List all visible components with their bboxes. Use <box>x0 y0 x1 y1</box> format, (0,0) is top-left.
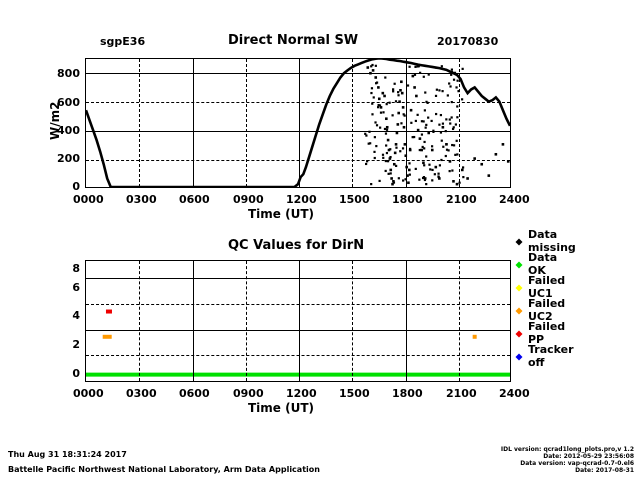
data-point-marker <box>415 168 417 170</box>
data-point-marker <box>461 169 464 172</box>
data-point-marker <box>423 164 425 166</box>
x-tick-top-1500: 1500 <box>339 193 363 206</box>
data-point-marker <box>375 65 377 67</box>
data-point-marker <box>392 88 394 90</box>
data-point-marker <box>390 172 392 174</box>
data-point-marker <box>422 162 425 165</box>
data-point-marker <box>370 183 372 185</box>
data-point-marker <box>409 66 411 68</box>
gridline-h-200 <box>86 160 510 161</box>
data-point-marker <box>402 179 404 181</box>
gridline-v-0300 <box>139 59 140 187</box>
data-point-marker <box>441 90 443 92</box>
data-point-marker <box>453 144 455 146</box>
qc-marker <box>473 335 477 339</box>
gridline-v-2100 <box>459 59 460 187</box>
data-point-marker <box>388 173 390 175</box>
data-point-marker <box>442 126 445 129</box>
data-point-marker <box>385 132 387 134</box>
footer-data-date: Date: 2017-08-31 <box>400 467 634 474</box>
data-point-marker <box>376 124 378 126</box>
data-point-marker <box>414 66 416 68</box>
data-point-marker <box>456 140 458 142</box>
data-point-marker <box>439 164 441 166</box>
data-point-marker <box>435 166 438 169</box>
data-point-marker <box>397 94 399 96</box>
data-point-marker <box>407 181 410 184</box>
chart-panel-qc-values <box>85 260 511 382</box>
data-point-marker <box>418 179 420 181</box>
qc-marker <box>106 310 112 314</box>
data-point-marker <box>448 82 450 84</box>
y-tick-qc-4: 4 <box>58 309 80 322</box>
data-point-marker <box>386 152 388 154</box>
data-point-marker <box>415 95 418 98</box>
data-point-marker <box>462 68 464 70</box>
data-point-marker <box>452 180 455 183</box>
gridline-v-1500 <box>352 59 353 187</box>
data-point-marker <box>369 142 371 144</box>
data-point-marker <box>409 174 411 176</box>
diamond-marker-icon <box>515 261 522 268</box>
data-point-marker <box>397 112 400 115</box>
data-point-marker <box>406 174 409 177</box>
chart-panel-direct-normal-sw <box>85 58 511 188</box>
data-point-marker <box>389 148 391 150</box>
data-point-marker <box>402 106 405 109</box>
x-tick-top-0000: 0000 <box>73 193 97 206</box>
data-point-marker <box>385 170 387 172</box>
gridline-h-600 <box>86 102 510 103</box>
x-tick-qc-0900: 0900 <box>233 387 257 400</box>
data-point-marker <box>387 139 390 142</box>
x-tick-qc-0300: 0300 <box>126 387 150 400</box>
data-point-marker <box>495 153 498 156</box>
x-tick-top-1200: 1200 <box>286 193 310 206</box>
data-point-marker <box>425 155 427 157</box>
data-point-marker <box>389 169 392 172</box>
data-point-marker <box>385 144 387 146</box>
data-point-marker <box>400 80 403 83</box>
data-point-marker <box>408 169 411 172</box>
data-point-marker <box>449 118 451 120</box>
data-point-marker <box>412 75 415 78</box>
data-point-marker <box>410 109 413 112</box>
data-point-marker <box>454 154 456 156</box>
data-point-marker <box>385 117 388 120</box>
x-axis-label-qc: Time (UT) <box>248 401 314 415</box>
data-point-marker <box>397 123 400 126</box>
data-point-marker <box>394 83 396 85</box>
data-point-marker <box>434 173 436 175</box>
data-point-marker <box>462 176 464 178</box>
legend-item-label: Tracker off <box>528 343 574 369</box>
x-tick-top-0900: 0900 <box>233 193 257 206</box>
data-point-marker <box>429 168 431 170</box>
data-point-marker <box>372 69 375 72</box>
data-point-marker <box>371 113 373 115</box>
data-point-marker <box>480 163 483 166</box>
data-point-marker <box>409 148 411 150</box>
y-tick-qc-2: 2 <box>58 338 80 351</box>
data-point-marker <box>403 113 405 115</box>
data-point-marker <box>377 106 379 108</box>
data-point-marker <box>424 109 426 111</box>
data-point-marker <box>365 163 367 165</box>
footer-data-version: Data version: vap-qcrad-0.7-0.el6 <box>400 460 634 467</box>
data-point-marker <box>374 157 376 159</box>
data-point-marker <box>445 155 447 157</box>
data-point-marker <box>431 149 434 152</box>
data-point-marker <box>423 76 425 78</box>
data-point-marker <box>366 66 369 69</box>
data-point-marker <box>377 86 380 89</box>
footer-organization: Battelle Pacific Northwest National Labo… <box>8 465 320 474</box>
data-point-marker <box>374 136 376 138</box>
diamond-marker-icon <box>515 353 522 360</box>
data-point-marker <box>401 92 404 95</box>
y-tick-top-400: 400 <box>44 124 80 137</box>
data-point-marker <box>424 179 426 181</box>
y-tick-qc-0: 0 <box>58 367 80 380</box>
data-point-marker <box>455 86 457 88</box>
data-point-marker <box>451 144 453 146</box>
data-point-marker <box>393 181 395 183</box>
data-point-marker <box>451 69 453 71</box>
x-tick-top-2100: 2100 <box>446 193 470 206</box>
data-point-marker <box>380 112 382 114</box>
data-point-marker <box>422 177 424 179</box>
data-point-marker <box>431 120 433 122</box>
data-point-marker <box>442 146 444 148</box>
data-point-marker <box>394 152 397 155</box>
data-point-marker <box>382 157 384 159</box>
data-point-marker <box>453 79 455 81</box>
data-point-marker <box>399 89 402 92</box>
data-point-marker <box>374 76 377 79</box>
y-tick-qc-6: 6 <box>58 281 80 294</box>
data-point-marker <box>392 90 394 92</box>
data-point-marker <box>384 76 386 78</box>
data-point-marker <box>375 82 377 84</box>
data-point-marker <box>378 104 380 106</box>
data-point-marker <box>438 176 440 178</box>
data-point-marker <box>400 122 402 124</box>
gridline-v-0900 <box>246 59 247 187</box>
data-point-marker <box>451 169 453 171</box>
x-axis-label-top: Time (UT) <box>248 207 314 221</box>
data-point-marker <box>424 91 426 93</box>
data-point-marker <box>438 124 440 126</box>
footer-version-block: IDL version: qcrad1long_plots.pro,v 1.2 … <box>400 446 634 474</box>
data-point-marker <box>421 120 423 122</box>
gridline-h-400 <box>86 131 510 132</box>
diamond-marker-icon <box>515 284 522 291</box>
data-point-marker <box>373 151 375 153</box>
data-point-marker <box>435 95 437 97</box>
data-point-marker <box>386 126 389 129</box>
data-point-marker <box>383 95 386 98</box>
x-tick-qc-2100: 2100 <box>446 387 470 400</box>
data-point-marker <box>431 145 433 147</box>
data-point-marker <box>395 165 397 167</box>
qc-marker <box>103 335 112 339</box>
data-point-marker <box>455 123 457 125</box>
site-id-label: sgpE36 <box>100 35 145 48</box>
date-code-label: 20170830 <box>437 35 498 48</box>
data-point-marker <box>436 89 438 91</box>
data-point-marker <box>466 177 469 180</box>
data-line-direct-normal-sw <box>86 59 510 187</box>
data-point-marker <box>375 145 377 147</box>
data-point-marker <box>440 114 442 116</box>
y-tick-top-200: 200 <box>44 152 80 165</box>
chart-data-area-top <box>86 59 510 187</box>
gridline-qc-h-4 <box>86 330 510 331</box>
data-point-marker <box>445 143 447 145</box>
data-point-marker <box>413 136 415 138</box>
data-point-marker <box>379 127 381 129</box>
y-tick-top-0: 0 <box>58 180 80 193</box>
data-point-marker <box>438 89 440 91</box>
data-point-marker <box>462 166 464 168</box>
data-point-marker <box>442 123 444 125</box>
data-point-marker <box>446 149 448 151</box>
data-point-marker <box>370 65 372 67</box>
data-point-marker <box>425 127 427 129</box>
data-point-marker <box>441 140 443 142</box>
data-point-marker <box>407 84 409 86</box>
x-tick-qc-0000: 0000 <box>73 387 97 400</box>
footer-idl-version: IDL version: qcrad1long_plots.pro,v 1.2 <box>400 446 634 453</box>
data-point-marker <box>422 146 424 148</box>
data-point-marker <box>488 174 491 177</box>
data-point-marker <box>370 92 372 94</box>
data-point-marker <box>398 177 400 179</box>
data-point-marker <box>425 124 427 126</box>
data-point-marker <box>453 126 455 128</box>
data-point-marker <box>427 117 429 119</box>
data-point-marker <box>395 143 398 146</box>
x-tick-qc-1500: 1500 <box>339 387 363 400</box>
data-point-marker <box>461 98 463 100</box>
data-point-marker <box>408 162 410 164</box>
data-point-marker <box>431 179 433 181</box>
data-point-marker <box>378 98 381 101</box>
x-tick-top-0600: 0600 <box>179 193 203 206</box>
gridline-qc-h-8 <box>86 278 510 279</box>
x-tick-qc-1800: 1800 <box>392 387 416 400</box>
gridline-v-1200 <box>299 59 300 187</box>
y-tick-qc-8: 8 <box>58 262 80 275</box>
data-point-marker <box>402 147 404 149</box>
data-point-marker <box>431 169 433 171</box>
data-point-marker <box>384 128 386 130</box>
data-point-marker <box>419 149 421 151</box>
gridline-qc-h-2 <box>86 355 510 356</box>
diamond-marker-icon <box>515 330 522 337</box>
x-tick-qc-2400: 2400 <box>499 387 523 400</box>
y-tick-top-600: 600 <box>44 96 80 109</box>
gridline-v-0600 <box>193 59 194 187</box>
data-point-marker <box>445 118 447 120</box>
panel-title-top-text: Direct Normal SW <box>228 33 358 48</box>
data-point-marker <box>373 96 375 98</box>
data-point-marker <box>382 111 384 113</box>
data-point-marker <box>437 173 439 175</box>
data-point-marker <box>395 147 397 149</box>
diamond-marker-icon <box>515 238 522 245</box>
data-point-marker <box>425 183 427 185</box>
data-point-marker <box>399 150 401 152</box>
data-point-marker <box>441 65 443 67</box>
y-tick-top-800: 800 <box>44 67 80 80</box>
diamond-marker-icon <box>515 307 522 314</box>
data-point-marker <box>392 114 394 116</box>
data-point-marker <box>435 67 437 69</box>
footer-generated-timestamp: Thu Aug 31 18:31:24 2017 <box>8 450 127 459</box>
data-point-marker <box>397 91 399 93</box>
footer-idl-date: Date: 2012-05-29 23:56:08 <box>400 453 634 460</box>
x-tick-top-0300: 0300 <box>126 193 150 206</box>
data-point-marker <box>428 164 430 166</box>
data-point-marker <box>371 87 373 89</box>
data-point-marker <box>502 143 505 146</box>
x-tick-qc-1200: 1200 <box>286 387 310 400</box>
data-point-marker <box>419 137 422 140</box>
plot-page: sgpE36 Direct Normal SW 20170830 W/m2 0 … <box>0 0 640 480</box>
data-point-marker <box>421 133 423 135</box>
data-point-marker <box>379 180 381 182</box>
data-point-marker <box>451 116 453 118</box>
data-point-marker <box>389 156 391 158</box>
gridline-qc-h-6 <box>86 304 510 305</box>
data-point-marker <box>449 85 451 87</box>
data-point-marker <box>390 177 393 180</box>
data-point-marker <box>382 92 385 95</box>
x-tick-qc-0600: 0600 <box>179 387 203 400</box>
gridline-v-1800 <box>406 59 407 187</box>
legend-item-tracker-off[interactable]: Tracker off <box>515 343 574 369</box>
data-point-marker <box>449 170 451 172</box>
data-point-marker <box>413 86 416 89</box>
data-point-marker <box>365 134 367 136</box>
data-point-marker <box>417 114 419 116</box>
data-point-marker <box>410 122 412 124</box>
data-point-marker <box>447 94 449 96</box>
data-point-marker <box>386 103 388 105</box>
data-point-marker <box>382 154 384 156</box>
gridline-h-800 <box>86 73 510 74</box>
data-point-marker <box>374 121 376 123</box>
data-point-marker <box>415 120 417 122</box>
x-tick-top-1800: 1800 <box>392 193 416 206</box>
x-tick-top-2400: 2400 <box>499 193 523 206</box>
panel-title-qc: QC Values for DirN <box>228 238 364 253</box>
data-point-marker <box>423 141 425 143</box>
data-point-marker <box>449 122 451 124</box>
data-point-marker <box>417 65 419 67</box>
data-point-marker <box>435 113 437 115</box>
